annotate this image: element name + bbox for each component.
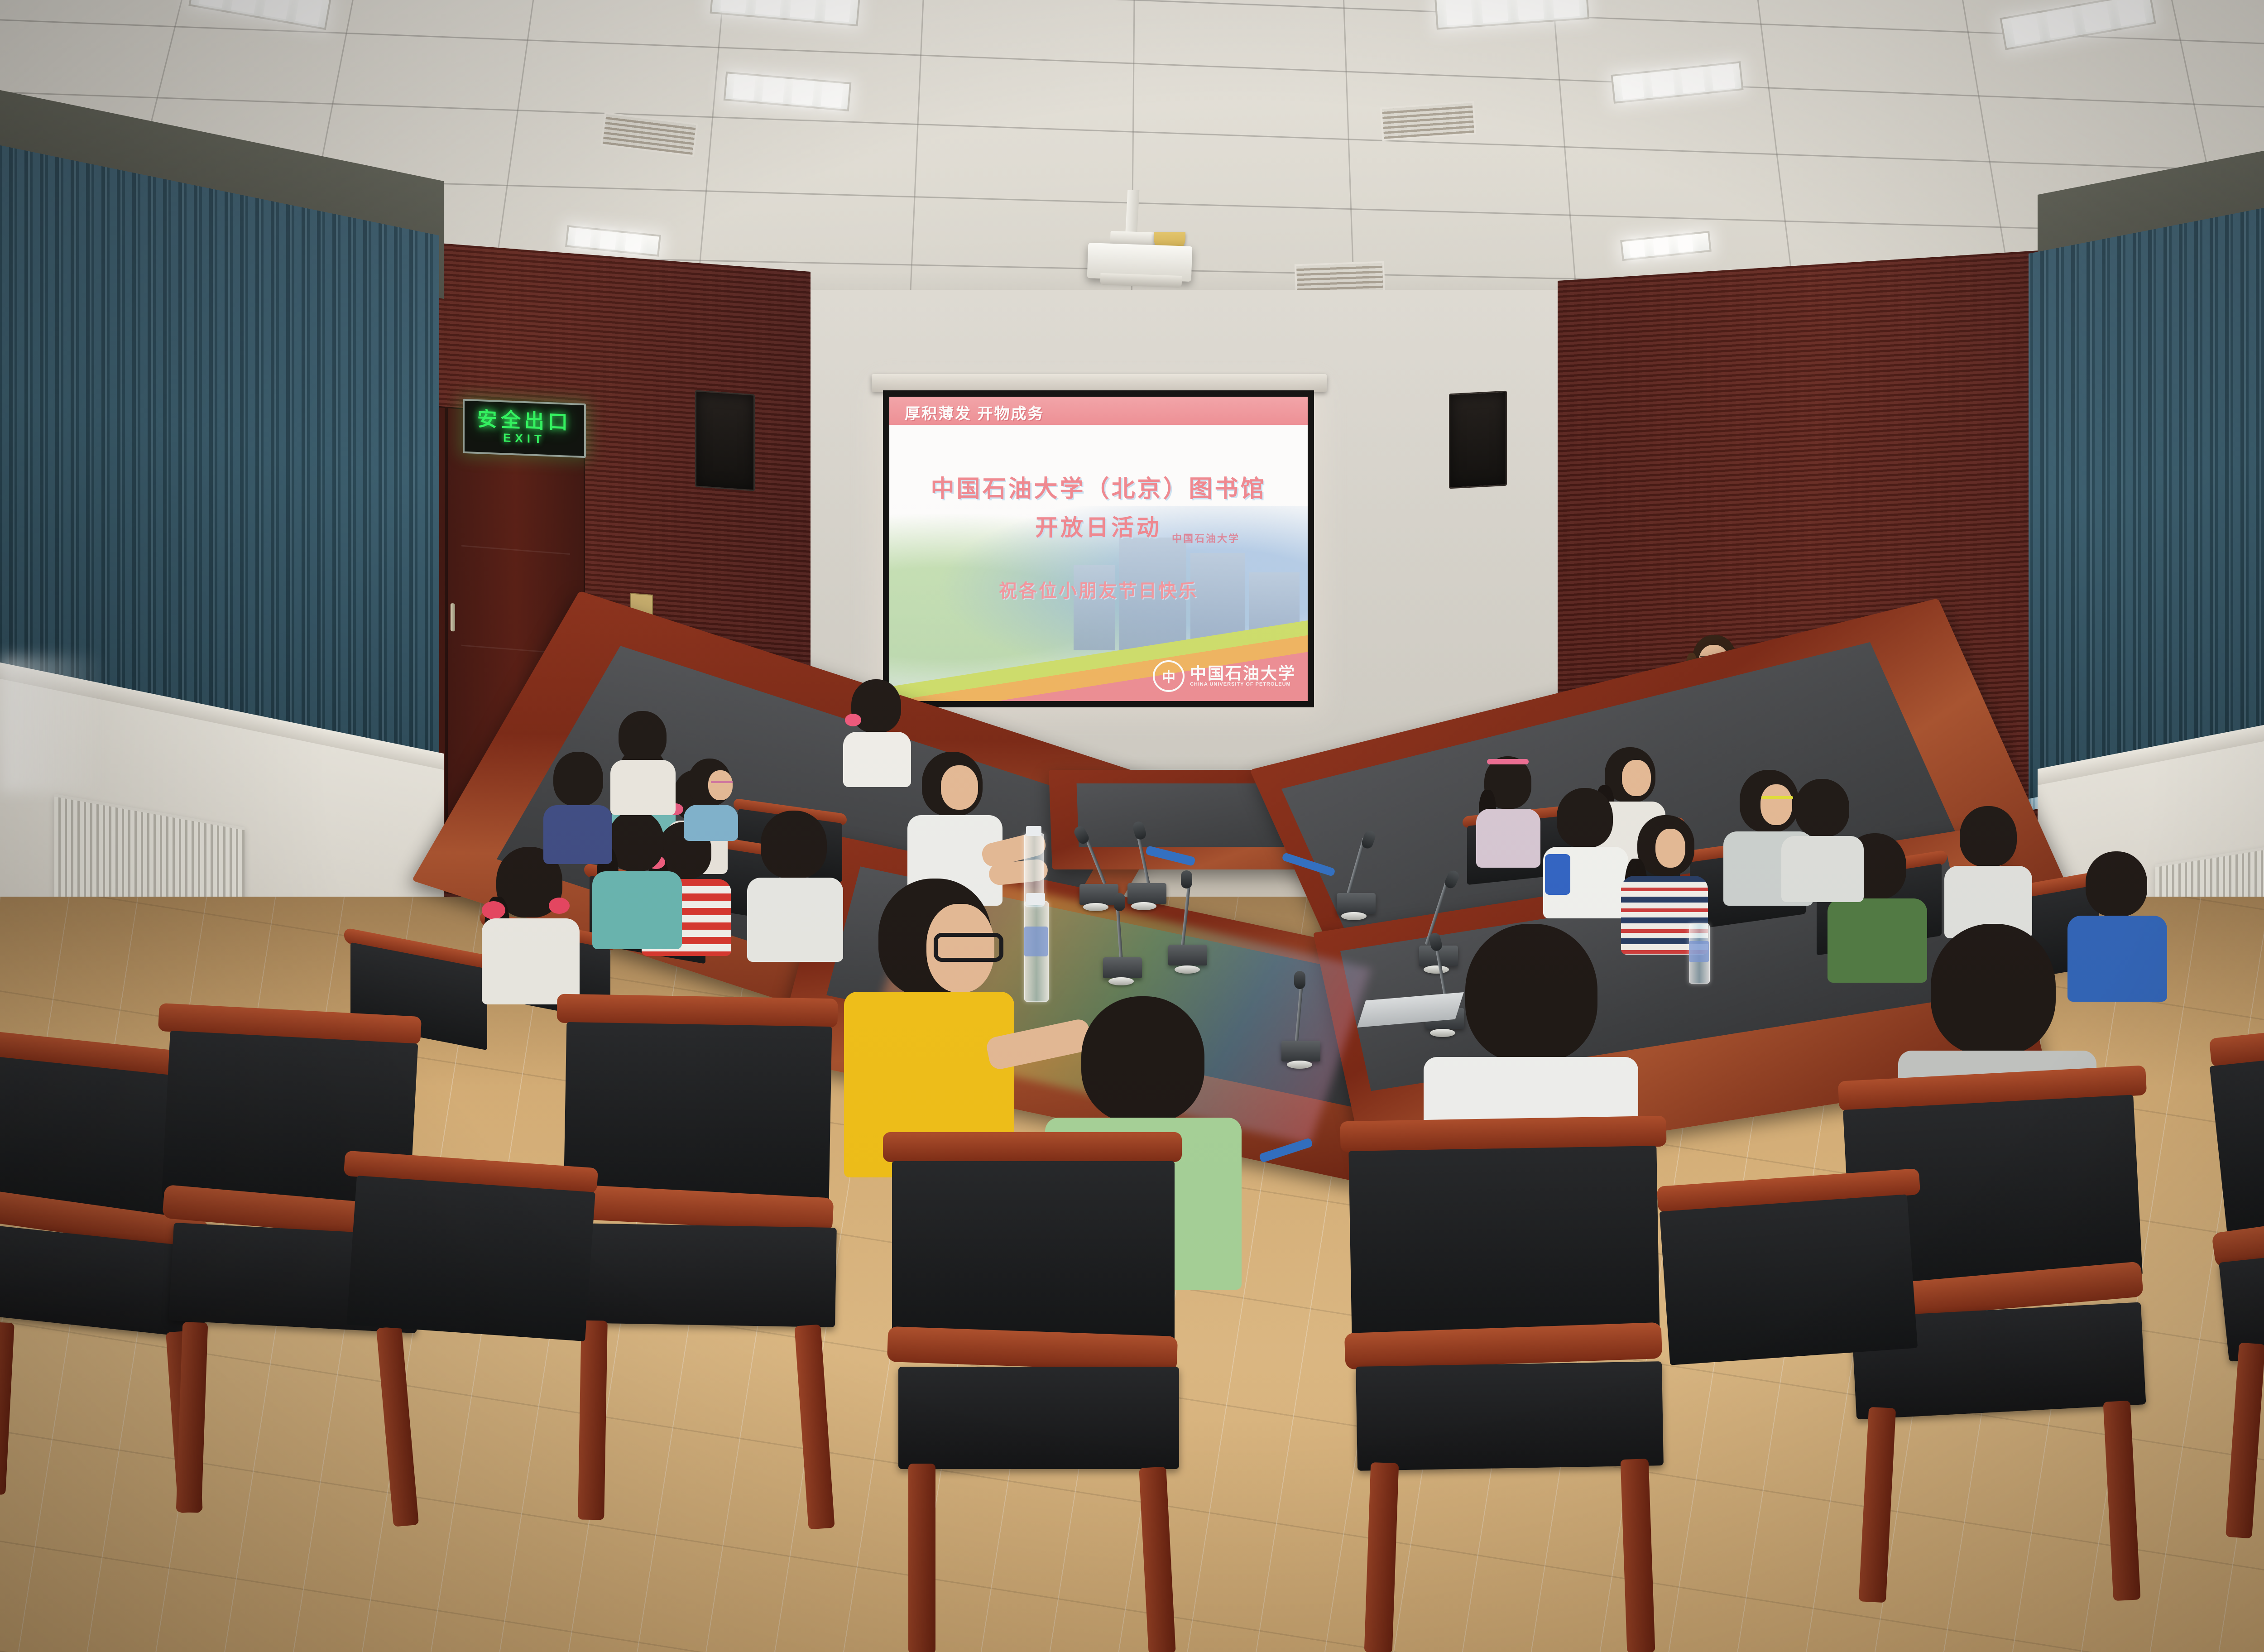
bottle-label-3 — [1024, 927, 1048, 956]
projection-screen-housing — [872, 374, 1327, 392]
chair-second-row-1[interactable] — [344, 1159, 616, 1549]
ceiling-light-fixture — [565, 225, 661, 256]
slide-title-line2: 开放日活动 — [889, 509, 1308, 542]
window-curtain-right — [2029, 160, 2264, 811]
slide-greeting-text: 祝各位小朋友节日快乐 — [889, 576, 1308, 602]
slide-university-logo: 中 中国石油大学 CHINA UNIVERSITY OF PETROLEUM — [1153, 660, 1296, 692]
ceiling-light-fixture — [2000, 0, 2156, 50]
microphone-4 — [1331, 836, 1408, 922]
ceiling-air-vent — [1380, 101, 1477, 141]
conference-room-photo: 安全出口 EXIT 厚积薄发 开物成务 中国石油大学（北京）图书馆 开放日活动 … — [0, 0, 2264, 1652]
logo-ring-icon: 中 — [1153, 660, 1185, 692]
chair-second-row-2[interactable] — [1657, 1177, 1938, 1576]
child-boy-mid-right — [1775, 779, 1870, 901]
ceiling-air-vent — [600, 112, 698, 157]
bottle-cap-1 — [1026, 826, 1041, 836]
exit-sign-chinese: 安全出口 — [477, 409, 571, 433]
presentation-slide: 厚积薄发 开物成务 中国石油大学（北京）图书馆 开放日活动 中国石油大学 祝各位… — [889, 397, 1308, 701]
projection-screen: 厚积薄发 开物成务 中国石油大学（北京）图书馆 开放日活动 中国石油大学 祝各位… — [883, 390, 1314, 707]
slide-motto-text: 厚积薄发 开物成务 — [905, 401, 1044, 423]
logo-name-en: CHINA UNIVERSITY OF PETROLEUM — [1190, 682, 1296, 687]
microphone-3 — [1159, 879, 1236, 978]
ceiling-light-fixture — [724, 72, 852, 111]
microphone-8 — [1096, 899, 1168, 990]
logo-name-cn: 中国石油大学 — [1190, 665, 1296, 682]
chair-foreground-5[interactable] — [1340, 1119, 1684, 1652]
slide-title-line1: 中国石油大学（北京）图书馆 — [889, 470, 1308, 504]
chair-foreground-4[interactable] — [883, 1132, 1200, 1652]
wall-speaker-left — [695, 390, 755, 491]
exit-sign-english: EXIT — [503, 430, 546, 447]
eyeglasses-icon — [934, 933, 1003, 962]
child-girl-back-left-2 — [602, 711, 684, 815]
slide-watermark-logo: 中国石油大学 — [1172, 531, 1240, 545]
ceiling-light-fixture — [1620, 231, 1712, 261]
ceiling-light-fixture — [710, 0, 860, 26]
ceiling-light-fixture — [188, 0, 331, 30]
microphone-7 — [1272, 978, 1349, 1073]
child-girl-braids — [466, 847, 593, 1001]
child-boy-shorthair-mid — [734, 811, 851, 960]
exit-sign: 安全出口 EXIT — [463, 399, 586, 458]
chair-foreground-7[interactable] — [2210, 1023, 2264, 1558]
ceiling-light-fixture — [1434, 0, 1589, 30]
bottle-cap-3 — [1026, 893, 1045, 905]
child-girl-pinkbow-mid — [833, 679, 919, 788]
wall-speaker-right — [1449, 391, 1507, 489]
ceiling-light-fixture — [1611, 61, 1743, 104]
bottle-label-2 — [1689, 941, 1709, 962]
child-boy-far-right — [1938, 806, 2038, 937]
window-light-glow-left — [0, 657, 104, 792]
